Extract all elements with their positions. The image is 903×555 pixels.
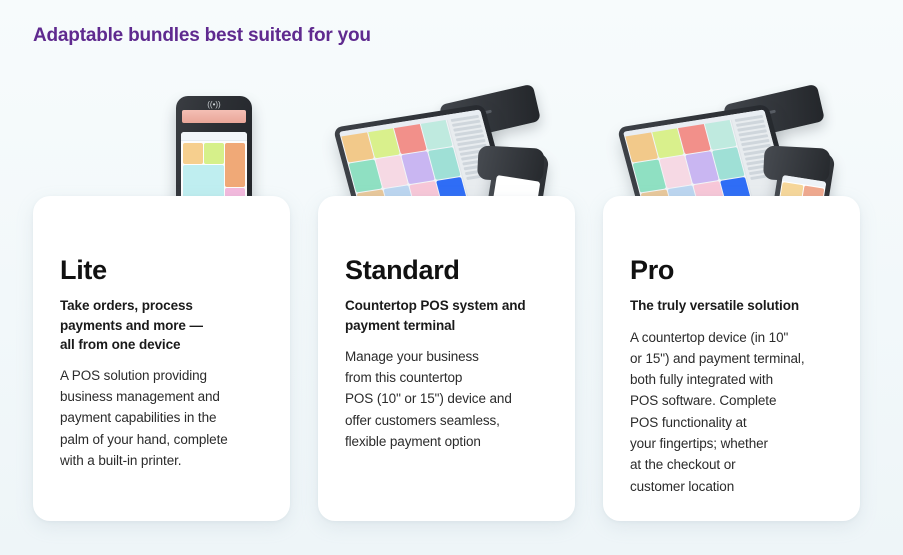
- lite-desc-line-2: business management and: [60, 386, 272, 407]
- standard-card-content: Standard Countertop POS system and payme…: [345, 256, 557, 452]
- bundle-card-standard[interactable]: Standard Countertop POS system and payme…: [318, 196, 575, 521]
- lite-desc-line-4: palm of your hand, complete: [60, 429, 272, 450]
- lite-subtitle-line-3: all from one device: [60, 335, 272, 354]
- standard-order-list: [445, 109, 505, 207]
- pro-desc-line-8: customer location: [630, 476, 842, 497]
- standard-subtitle-line-2: payment terminal: [345, 316, 557, 335]
- lite-card-content: Lite Take orders, process payments and m…: [60, 256, 272, 471]
- standard-card-title: Standard: [345, 256, 557, 284]
- pro-receipt-printer: [723, 84, 825, 143]
- pro-desc-line-3: both fully integrated with: [630, 369, 842, 390]
- pro-desc-line-6: your fingertips; whether: [630, 433, 842, 454]
- standard-card-subtitle: Countertop POS system and payment termin…: [345, 296, 557, 334]
- lite-desc-line-1: A POS solution providing: [60, 365, 272, 386]
- bundle-card-lite[interactable]: Lite Take orders, process payments and m…: [33, 196, 290, 521]
- pro-desc-line-1: A countertop device (in 10": [630, 327, 842, 348]
- pro-card-content: Pro The truly versatile solution A count…: [630, 256, 842, 497]
- lite-card-subtitle: Take orders, process payments and more —…: [60, 296, 272, 353]
- lite-subtitle-line-2: payments and more —: [60, 316, 272, 335]
- pro-desc-line-5: POS functionality at: [630, 412, 842, 433]
- standard-desc-line-5: flexible payment option: [345, 431, 557, 452]
- standard-pos-neck: [412, 166, 448, 192]
- lite-screen-topbar: [181, 132, 247, 141]
- pro-card-subtitle: The truly versatile solution: [630, 296, 842, 315]
- page-title: Adaptable bundles best suited for you: [33, 25, 371, 47]
- standard-card-description: Manage your business from this counterto…: [345, 346, 557, 453]
- pro-card-description: A countertop device (in 10" or 15") and …: [630, 327, 842, 498]
- lite-desc-line-3: payment capabilities in the: [60, 407, 272, 428]
- contactless-icon: ((•)): [203, 100, 225, 109]
- pro-terminal-topbar: [782, 175, 826, 188]
- pro-order-list: [729, 109, 789, 207]
- standard-subtitle-line-1: Countertop POS system and: [345, 296, 557, 315]
- lite-desc-line-5: with a built-in printer.: [60, 450, 272, 471]
- pro-desc-line-4: POS software. Complete: [630, 390, 842, 411]
- standard-desc-line-2: from this countertop: [345, 367, 557, 388]
- bundle-card-pro[interactable]: Pro The truly versatile solution A count…: [603, 196, 860, 521]
- standard-desc-line-4: offer customers seamless,: [345, 410, 557, 431]
- pro-desc-line-7: at the checkout or: [630, 454, 842, 475]
- pro-subtitle-line-1: The truly versatile solution: [630, 296, 842, 315]
- pro-card-title: Pro: [630, 256, 842, 284]
- pro-terminal-top: [763, 145, 831, 182]
- standard-screen-topbar: [339, 109, 481, 136]
- standard-desc-line-3: POS (10" or 15") device and: [345, 388, 557, 409]
- lite-card-description: A POS solution providing business manage…: [60, 365, 272, 472]
- lite-card-title: Lite: [60, 256, 272, 284]
- standard-desc-line-1: Manage your business: [345, 346, 557, 367]
- lite-subtitle-line-1: Take orders, process: [60, 296, 272, 315]
- lite-printer-slot: [182, 110, 246, 123]
- bundles-page: Adaptable bundles best suited for you ((…: [0, 0, 903, 555]
- standard-terminal-top: [477, 145, 545, 182]
- pro-desc-line-2: or 15") and payment terminal,: [630, 348, 842, 369]
- standard-receipt-printer: [439, 84, 541, 143]
- pro-screen-topbar: [623, 109, 765, 136]
- pro-pos-neck: [696, 166, 732, 192]
